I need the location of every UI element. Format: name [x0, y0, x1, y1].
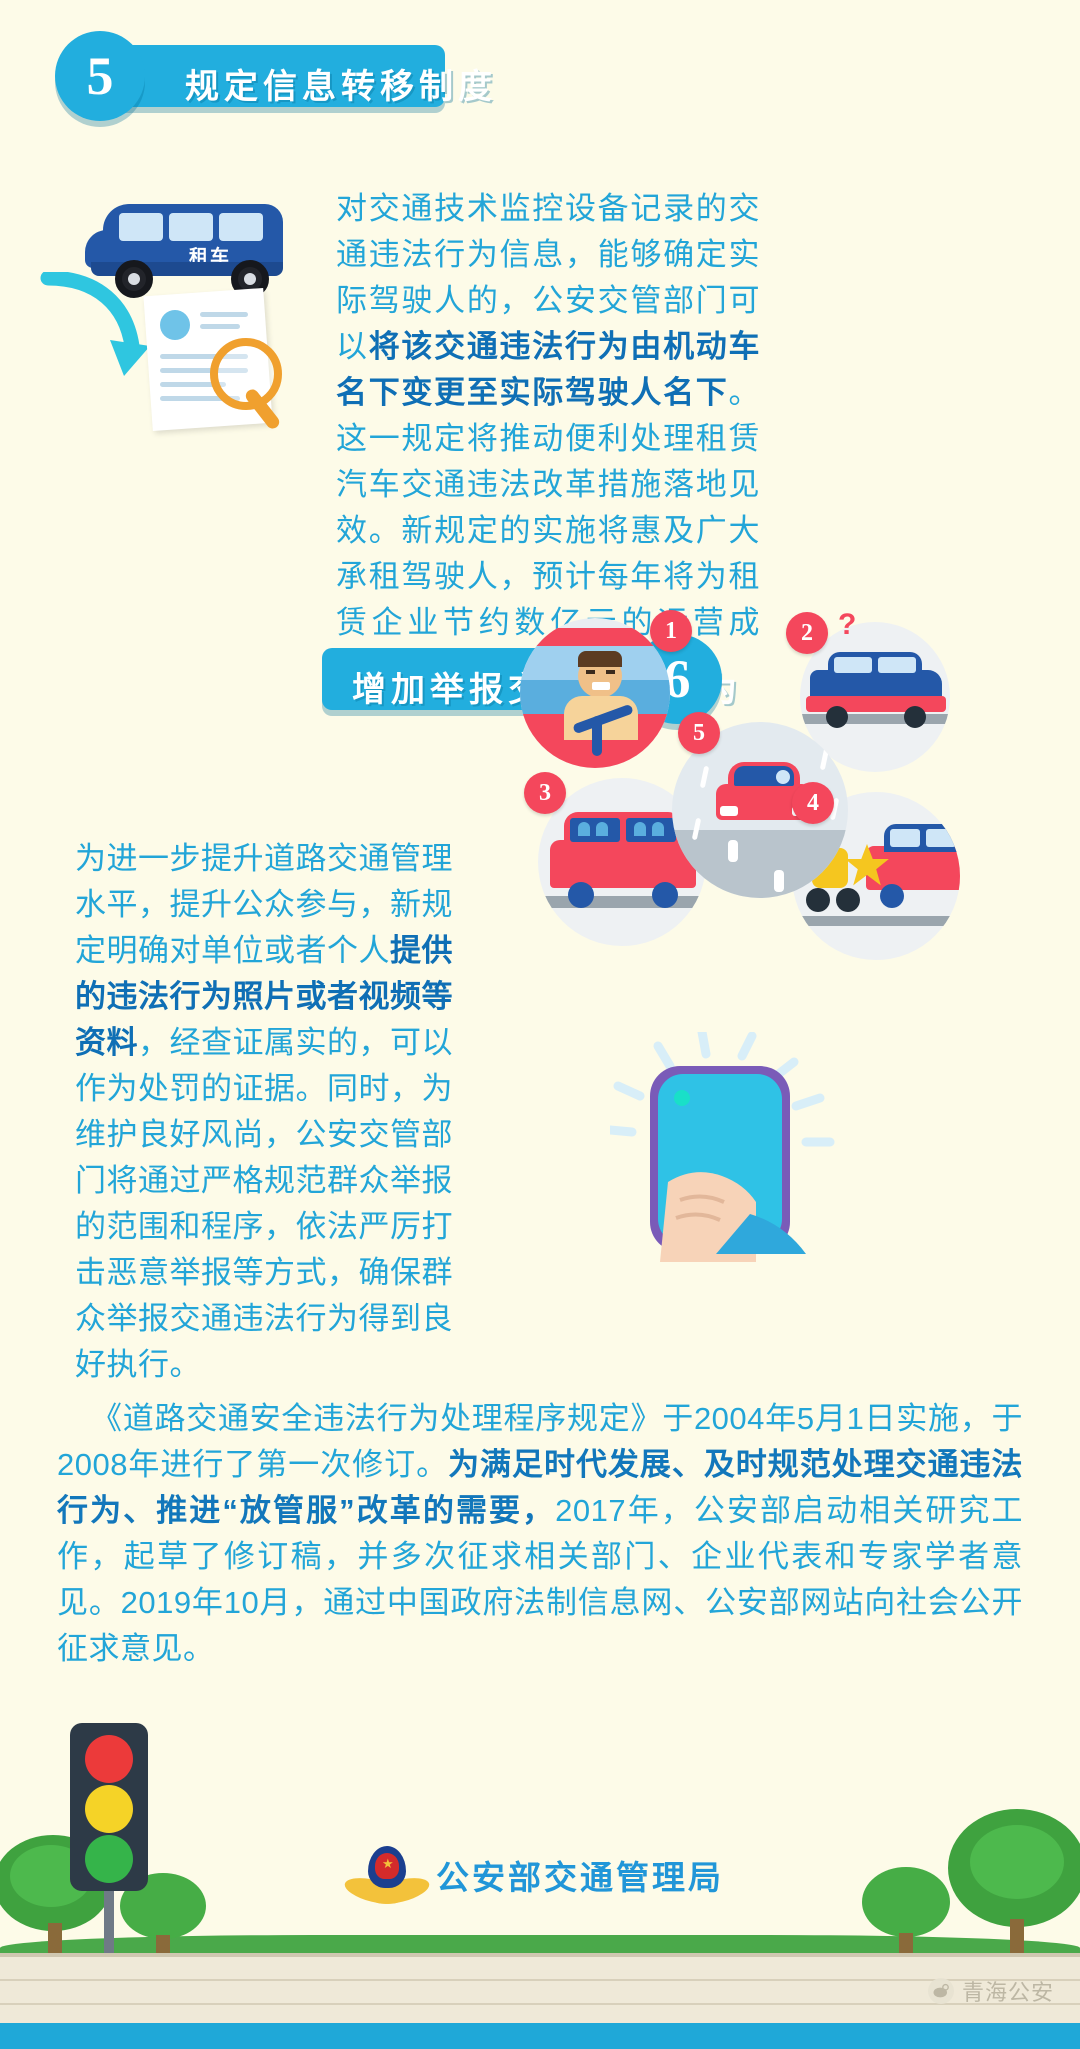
police-emblem-icon: ★ — [356, 1846, 418, 1904]
scene-badge-4: 4 — [792, 782, 834, 824]
footer-brand-text: 公安部交通管理局 — [436, 1851, 724, 1899]
document-line — [200, 324, 240, 329]
infographic-page: 5 规定信息转移制度 租车 对交通技术监控设备记录的交通违法行为信息，能够确定实… — [0, 0, 1080, 2049]
section-5-number: 5 — [87, 49, 114, 103]
weibo-icon — [928, 1978, 954, 2004]
section-5-number-badge: 5 — [55, 31, 145, 121]
document-with-magnifier-illustration — [148, 292, 328, 432]
question-mark-icon: ? — [838, 608, 856, 642]
document-line — [200, 312, 248, 317]
scene-badge-1: 1 — [650, 610, 692, 652]
section-6-text-run-2: ，经查证属实的，可以作为处罚的证据。同时，为维护良好风尚，公安交管部门将通过严格… — [75, 1025, 453, 1382]
traffic-light-illustration — [70, 1723, 148, 1953]
scene-badge-2: 2 — [786, 612, 828, 654]
weibo-watermark: 青海公安 — [928, 1975, 1054, 2007]
van-window — [219, 213, 263, 241]
scene-badge-5: 5 — [678, 712, 720, 754]
scene-angry-driver — [520, 618, 670, 768]
curved-arrow-icon — [40, 272, 150, 382]
section-5-text-emphasis-1: 将该交通违法行为由机动车名下变更至实际驾驶人名下 — [336, 329, 760, 410]
document-avatar — [160, 310, 190, 340]
van-window — [169, 213, 213, 241]
traffic-light-yellow — [85, 1785, 133, 1833]
section-5-header: 5 规定信息转移制度 — [55, 45, 445, 107]
van-window — [119, 213, 163, 241]
bottom-blue-bar — [0, 2023, 1080, 2049]
footer-brand: ★ 公安部交通管理局 — [0, 1840, 1080, 1910]
bottom-note-paragraph: 《道路交通安全违法行为处理程序规定》于2004年5月1日实施，于2008年进行了… — [57, 1396, 1023, 1672]
weibo-watermark-text: 青海公安 — [962, 1975, 1054, 2007]
section-5-title: 规定信息转移制度 — [185, 59, 497, 108]
hand-holding-phone-illustration — [610, 1032, 840, 1262]
scene-badge-3: 3 — [524, 772, 566, 814]
section-6-paragraph: 为进一步提升道路交通管理水平，提升公众参与，新规定明确对单位或者个人提供的违法行… — [75, 836, 453, 1388]
traffic-light-red — [85, 1735, 133, 1783]
